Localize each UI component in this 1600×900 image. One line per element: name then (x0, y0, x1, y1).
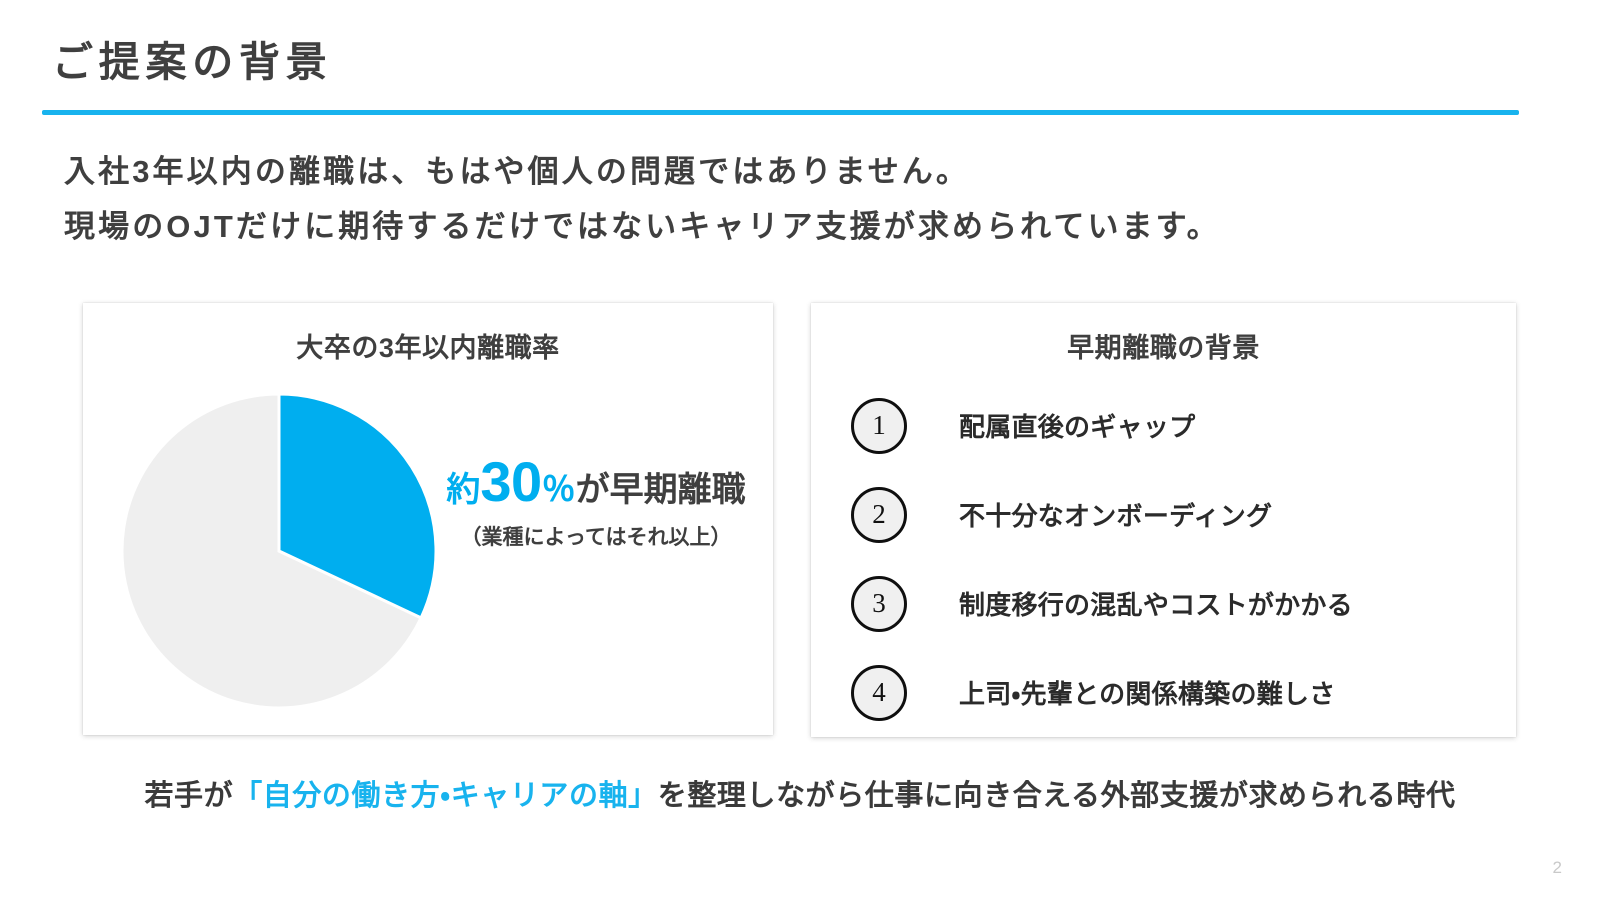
footer-highlight: 「自分の働き方・キャリアの軸」 (233, 780, 658, 812)
card-turnover-causes: 早期離職の背景 1 配属直後のギャップ 2 不十分なオンボーディング 3 制度移… (811, 303, 1516, 737)
list-item-label: 配属直後のギャップ (959, 407, 1195, 444)
number-badge-icon: 1 (851, 398, 907, 454)
lead-line-1: 入社3年以内の離職は、もはや個人の問題ではありません。 (64, 144, 1221, 199)
pie-callout-sub: （業種によってはそれ以上） (431, 521, 761, 551)
pie-callout: 約30％が早期離職 （業種によってはそれ以上） (431, 451, 761, 551)
callout-number: 30 (480, 450, 541, 513)
list-item: 4 上司・先輩との関係構築の難しさ (851, 648, 1496, 737)
slide-root: ご提案の背景 入社3年以内の離職は、もはや個人の問題ではありません。 現場のOJ… (0, 0, 1600, 900)
cards-row: 大卒の3年以内離職率 約30％が早期離職 （業種によってはそれ以上） 早期離職の… (83, 303, 1516, 737)
footer-part-2: を整理しながら仕事に向き合える外部支援が求められる時代 (658, 780, 1456, 812)
pie-callout-main: 約30％が早期離職 (431, 451, 761, 513)
footer-part-1: 若手が (144, 780, 233, 812)
footer-message: 若手が「自分の働き方・キャリアの軸」を整理しながら仕事に向き合える外部支援が求め… (0, 772, 1600, 814)
number-badge-icon: 3 (851, 576, 907, 632)
pie-chart-svg (119, 391, 439, 711)
right-card-title: 早期離職の背景 (811, 326, 1516, 365)
callout-suffix: が早期離職 (576, 471, 746, 509)
list-item: 3 制度移行の混乱やコストがかかる (851, 559, 1496, 648)
number-badge-icon: 2 (851, 487, 907, 543)
lead-line-2: 現場のOJTだけに期待するだけではないキャリア支援が求められています。 (64, 199, 1221, 254)
cause-list: 1 配属直後のギャップ 2 不十分なオンボーディング 3 制度移行の混乱やコスト… (851, 381, 1496, 737)
list-item-label: 制度移行の混乱やコストがかかる (959, 585, 1353, 622)
list-item: 2 不十分なオンボーディング (851, 470, 1496, 559)
title-underline-rule (42, 110, 1519, 115)
list-item-label: 不十分なオンボーディング (959, 496, 1272, 533)
page-title: ご提案の背景 (52, 28, 332, 88)
list-item: 1 配属直後のギャップ (851, 381, 1496, 470)
left-card-title: 大卒の3年以内離職率 (83, 326, 773, 365)
card-turnover-rate: 大卒の3年以内離職率 約30％が早期離職 （業種によってはそれ以上） (83, 303, 773, 735)
lead-paragraph: 入社3年以内の離職は、もはや個人の問題ではありません。 現場のOJTだけに期待す… (64, 144, 1221, 254)
callout-percent-sign: ％ (542, 471, 576, 509)
callout-prefix: 約 (446, 471, 480, 509)
pie-chart (119, 391, 439, 711)
number-badge-icon: 4 (851, 665, 907, 721)
page-number: 2 (1553, 858, 1562, 878)
list-item-label: 上司・先輩との関係構築の難しさ (959, 674, 1335, 711)
